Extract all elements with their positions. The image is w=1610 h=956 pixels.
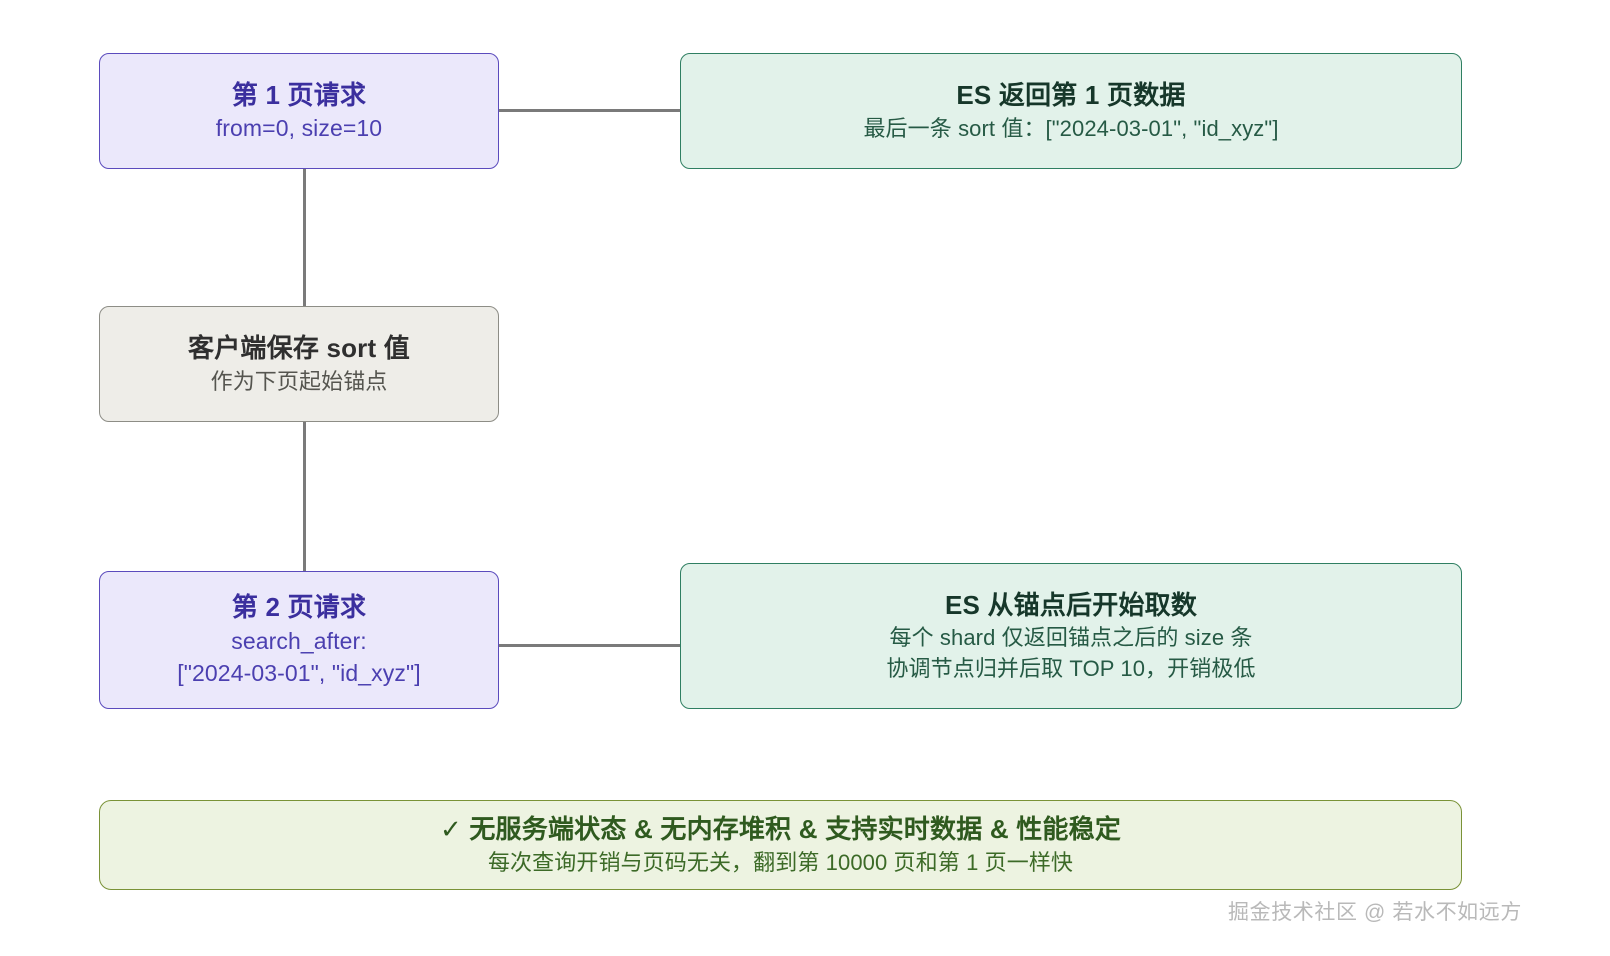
node-es-anchor-fetch-title: ES 从锚点后开始取数 <box>945 588 1197 622</box>
diagram-canvas: 第 1 页请求 from=0, size=10 ES 返回第 1 页数据 最后一… <box>0 0 1610 956</box>
node-page1-request-title: 第 1 页请求 <box>232 78 366 112</box>
node-client-store-sort-title: 客户端保存 sort 值 <box>188 331 410 365</box>
node-page1-request[interactable]: 第 1 页请求 from=0, size=10 <box>99 53 499 169</box>
node-es-anchor-fetch[interactable]: ES 从锚点后开始取数 每个 shard 仅返回锚点之后的 size 条 协调节… <box>680 563 1462 709</box>
node-client-store-sort-subtitle: 作为下页起始锚点 <box>211 366 388 397</box>
node-es-anchor-fetch-subtitle-2: 协调节点归并后取 TOP 10，开销极低 <box>886 653 1255 684</box>
connector-client-store-to-page2-request <box>303 421 306 572</box>
connector-page1-request-to-client-store <box>303 168 306 307</box>
connector-page2-request-to-es-anchor <box>499 644 681 647</box>
node-page2-request-title: 第 2 页请求 <box>232 590 366 624</box>
summary-banner-subtitle: 每次查询开销与页码无关，翻到第 10000 页和第 1 页一样快 <box>488 847 1073 878</box>
node-es-anchor-fetch-subtitle-1: 每个 shard 仅返回锚点之后的 size 条 <box>889 622 1252 653</box>
watermark-credit: 掘金技术社区 @ 若水不如远方 <box>1228 896 1522 926</box>
clipped-bottom-text <box>186 944 306 956</box>
node-client-store-sort[interactable]: 客户端保存 sort 值 作为下页起始锚点 <box>99 306 499 422</box>
node-page1-request-subtitle: from=0, size=10 <box>216 112 382 145</box>
node-page2-request[interactable]: 第 2 页请求 search_after: ["2024-03-01", "id… <box>99 571 499 709</box>
summary-banner[interactable]: ✓ 无服务端状态 & 无内存堆积 & 支持实时数据 & 性能稳定 每次查询开销与… <box>99 800 1462 890</box>
node-es-page1-response-subtitle: 最后一条 sort 值：["2024-03-01", "id_xyz"] <box>863 113 1278 144</box>
node-es-page1-response-title: ES 返回第 1 页数据 <box>956 78 1185 112</box>
connector-page1-request-to-es-page1 <box>499 109 681 112</box>
summary-banner-title: ✓ 无服务端状态 & 无内存堆积 & 支持实时数据 & 性能稳定 <box>440 812 1121 846</box>
node-page2-request-subtitle-1: search_after: <box>231 625 367 658</box>
node-page2-request-subtitle-2: ["2024-03-01", "id_xyz"] <box>177 657 420 690</box>
node-es-page1-response[interactable]: ES 返回第 1 页数据 最后一条 sort 值：["2024-03-01", … <box>680 53 1462 169</box>
